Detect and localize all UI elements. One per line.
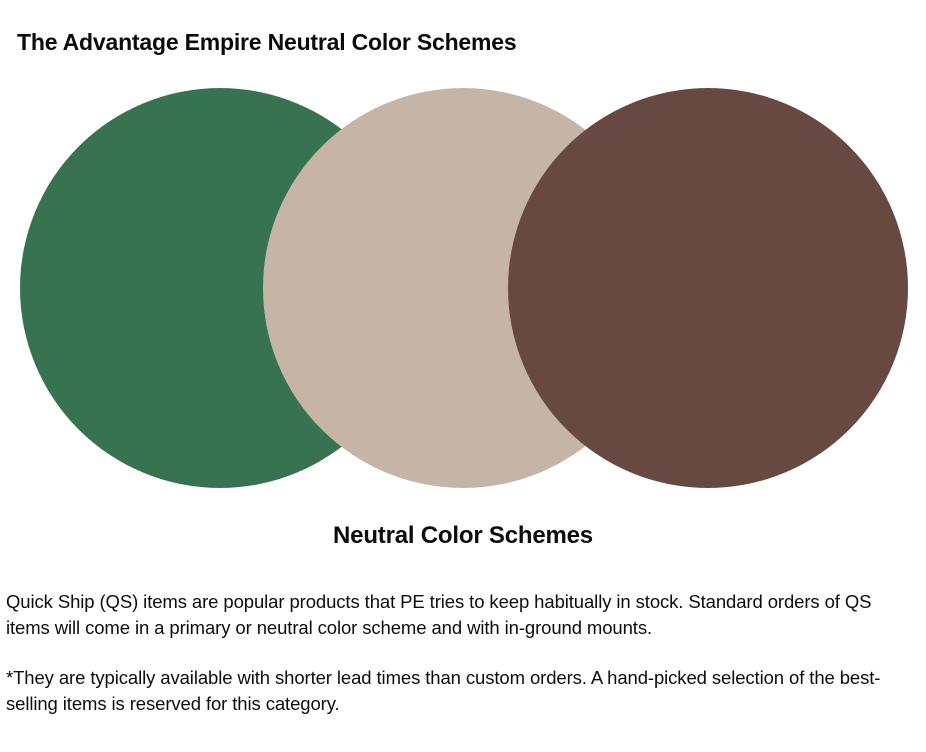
paragraph-main: Quick Ship (QS) items are popular produc… [6, 589, 906, 640]
paragraph-footnote: *They are typically available with short… [6, 665, 906, 716]
color-swatch-group [0, 88, 926, 490]
page-root: The Advantage Empire Neutral Color Schem… [0, 0, 926, 752]
body-copy: Quick Ship (QS) items are popular produc… [6, 589, 906, 716]
swatch-caption: Neutral Color Schemes [0, 521, 926, 550]
page-title: The Advantage Empire Neutral Color Schem… [17, 28, 516, 56]
color-circle-brown[interactable] [508, 88, 908, 488]
